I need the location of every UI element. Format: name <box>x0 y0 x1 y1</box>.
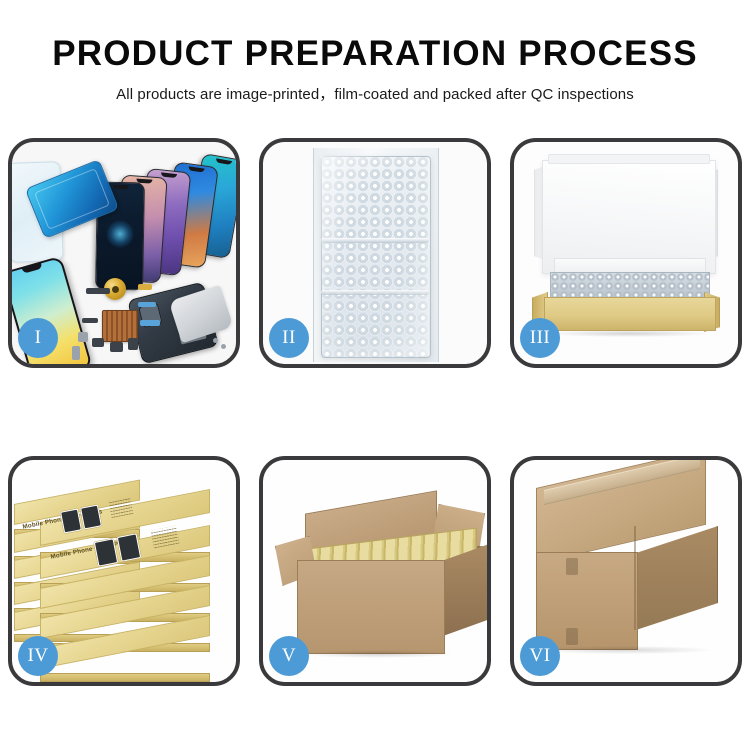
white-box-lid-icon <box>542 160 716 274</box>
blue-flex-part-icon <box>140 320 160 326</box>
kraft-box-front-icon <box>544 297 716 331</box>
step-badge-6: VI <box>520 636 560 676</box>
gold-flex-part-icon <box>138 284 152 290</box>
carton-front-face-icon <box>297 560 445 654</box>
bubble-wrap-seam-icon <box>321 238 429 243</box>
battery-part-icon <box>128 338 138 350</box>
step-badge-2: II <box>269 318 309 358</box>
small-part-icon <box>92 338 104 347</box>
step-badge-3: III <box>520 318 560 358</box>
page-title: PRODUCT PREPARATION PROCESS <box>0 0 750 73</box>
small-part-icon <box>86 288 110 294</box>
box-shadow <box>548 330 710 337</box>
box-artwork-phone-icon <box>60 508 82 533</box>
carton-handle-slot-icon <box>566 628 578 645</box>
carton-shadow <box>540 646 710 654</box>
phone-notch-icon <box>216 158 232 165</box>
process-step-grid: I II <box>8 138 742 686</box>
retail-box-item <box>40 648 208 682</box>
phone-notch-icon <box>188 166 204 172</box>
phone-notch-icon <box>113 185 129 189</box>
process-step-panel-1[interactable]: I <box>8 138 240 368</box>
box-side-face <box>40 673 210 682</box>
speaker-part-icon <box>110 342 123 352</box>
screw-icon <box>221 344 226 349</box>
step-badge-5: V <box>269 636 309 676</box>
step-badge-1: I <box>18 318 58 358</box>
bubble-wrap-seam-icon <box>321 290 429 295</box>
step-badge-4: IV <box>18 636 58 676</box>
process-step-panel-5[interactable]: V <box>259 456 491 686</box>
process-step-panel-3[interactable]: III <box>510 138 742 368</box>
small-part-icon <box>82 318 98 323</box>
product-preparation-infographic: PRODUCT PREPARATION PROCESS All products… <box>0 0 750 750</box>
carton-front-face-icon <box>536 552 638 650</box>
process-step-panel-6[interactable]: VI <box>510 456 742 686</box>
box-lid-tab-icon <box>548 154 710 164</box>
blue-flex-part-icon <box>138 302 156 307</box>
carton-handle-slot-icon <box>566 558 578 575</box>
screw-icon <box>213 338 218 343</box>
bubble-wrap-icon <box>321 156 431 358</box>
small-part-icon <box>78 332 88 342</box>
sim-tray-part-icon <box>72 346 80 360</box>
header: PRODUCT PREPARATION PROCESS All products… <box>0 0 750 104</box>
process-step-panel-4[interactable]: Mobile Phone Spare Parts Mobile Phone Sp… <box>8 456 240 686</box>
carton-edge-seam <box>634 526 636 630</box>
phone-fan-group <box>98 154 236 274</box>
page-subtitle: All products are image-printed，film-coat… <box>0 73 750 104</box>
bubble-wrapped-content-icon <box>550 272 710 300</box>
process-step-panel-2[interactable]: II <box>259 138 491 368</box>
phone-notch-icon <box>161 172 177 178</box>
box-artwork-phone-icon <box>80 504 102 529</box>
carton-shadow <box>303 650 453 658</box>
